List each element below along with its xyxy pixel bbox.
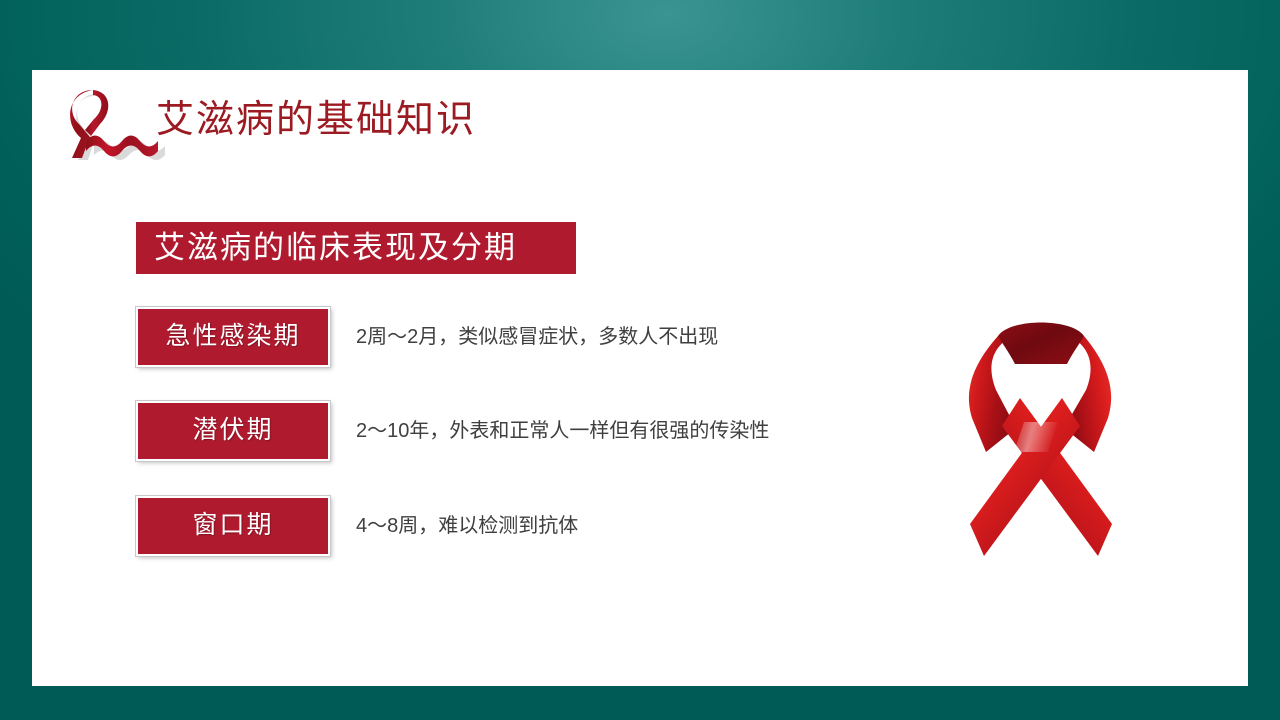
stage-chip-acute[interactable]: 急性感染期 [136,307,330,367]
stage-description: 2周～2月，类似感冒症状，多数人不出现 [356,325,718,349]
aids-ribbon-icon [962,302,1122,564]
stage-chip-label: 窗口期 [192,512,273,540]
stage-chip-window[interactable]: 窗口期 [136,496,330,556]
stage-row: 窗口期 4～8周，难以检测到抗体 [136,495,578,557]
page-title: 艾滋病的基础知识 [156,98,476,142]
stage-description: 4～8周，难以检测到抗体 [356,514,578,538]
stage-row: 潜伏期 2～10年，外表和正常人一样但有很强的传染性 [136,400,769,462]
section-banner-label: 艾滋病的临床表现及分期 [154,231,517,265]
stage-chip-label: 急性感染期 [165,323,300,351]
stage-chip-latent[interactable]: 潜伏期 [136,401,330,461]
stage-chip-label: 潜伏期 [192,417,273,445]
stage-description: 2～10年，外表和正常人一样但有很强的传染性 [356,419,769,443]
slide-canvas: 艾滋病的基础知识 艾滋病的临床表现及分期 急性感染期 2周～2月，类似感冒症状，… [0,0,1280,720]
stage-row: 急性感染期 2周～2月，类似感冒症状，多数人不出现 [136,306,718,368]
slide-header: 艾滋病的基础知识 [60,86,580,172]
content-card: 艾滋病的基础知识 艾滋病的临床表现及分期 急性感染期 2周～2月，类似感冒症状，… [32,70,1248,686]
section-banner: 艾滋病的临床表现及分期 [136,222,576,274]
